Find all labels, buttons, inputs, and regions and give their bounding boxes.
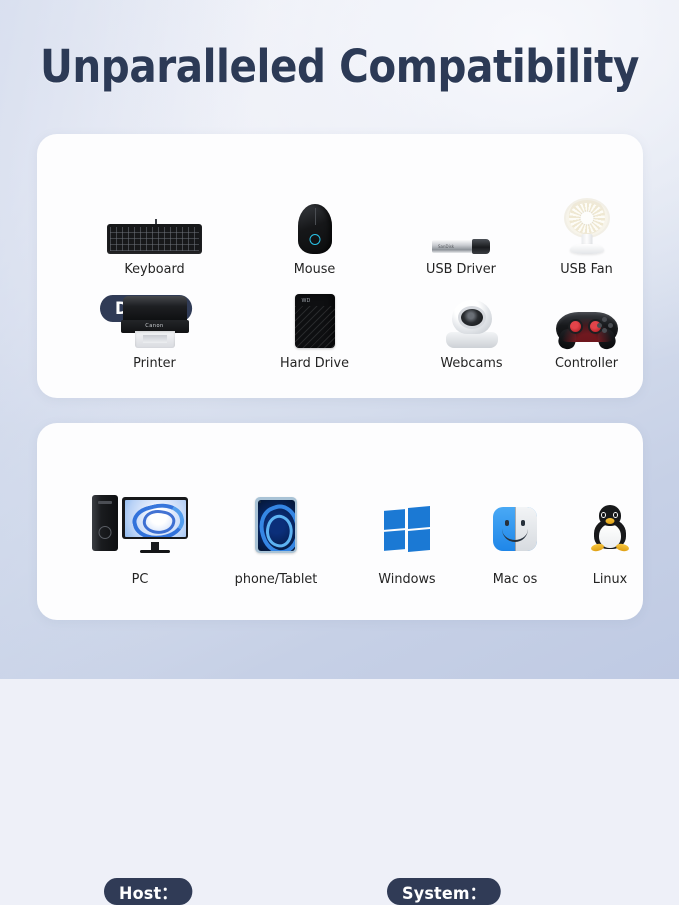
hosts-systems-card: Host： System： PC phone/Tablet xyxy=(37,423,643,620)
device-item-usb-fan: USB Fan xyxy=(535,186,638,277)
devices-card: Devive Keyboard Mouse SanDisk USB Driver xyxy=(37,134,643,398)
usb-fan-icon xyxy=(535,186,638,254)
host-label: PC xyxy=(74,571,207,587)
system-badge: System： xyxy=(387,878,501,905)
host-item-phone-tablet: phone/Tablet xyxy=(191,491,361,587)
webcam-dome-icon xyxy=(420,290,523,348)
tablet-icon xyxy=(191,491,361,553)
page-title: Unparalleled Compatibility xyxy=(34,38,645,96)
device-item-keyboard: Keyboard xyxy=(103,196,206,277)
device-label: USB Fan xyxy=(538,261,636,277)
device-item-hard-drive: WD Hard Drive xyxy=(263,290,366,371)
device-item-usb-driver: SanDisk USB Driver xyxy=(382,196,540,277)
infographic-page: Unparalleled Compatibility Devive Keyboa… xyxy=(0,0,679,679)
device-item-mouse: Mouse xyxy=(263,196,366,277)
linux-tux-icon xyxy=(552,493,668,551)
device-label: Webcams xyxy=(423,355,521,371)
device-label: USB Driver xyxy=(386,261,536,277)
device-label: Printer xyxy=(106,355,204,371)
device-item-printer: Canon Printer xyxy=(103,290,206,371)
system-label: Windows xyxy=(341,571,474,587)
system-label: Linux xyxy=(555,571,665,587)
host-badge: Host： xyxy=(104,878,193,905)
game-controller-icon xyxy=(535,290,638,348)
usb-flash-drive-icon: SanDisk xyxy=(382,196,540,254)
device-label: Hard Drive xyxy=(266,355,364,371)
keyboard-icon xyxy=(103,196,206,254)
printer-icon: Canon xyxy=(103,290,206,348)
system-item-linux: Linux xyxy=(552,493,668,587)
device-label: Mouse xyxy=(266,261,364,277)
hard-drive-icon: WD xyxy=(263,290,366,348)
windows-logo-icon xyxy=(337,495,477,551)
desktop-pc-icon xyxy=(70,491,210,553)
host-label: phone/Tablet xyxy=(195,571,357,587)
device-label: Controller xyxy=(538,355,636,371)
device-item-webcams: Webcams xyxy=(420,290,523,371)
host-item-pc: PC xyxy=(70,491,210,587)
device-item-controller: Controller xyxy=(535,290,638,371)
device-label: Keyboard xyxy=(106,261,204,277)
system-item-windows: Windows xyxy=(337,495,477,587)
mouse-icon xyxy=(263,196,366,254)
